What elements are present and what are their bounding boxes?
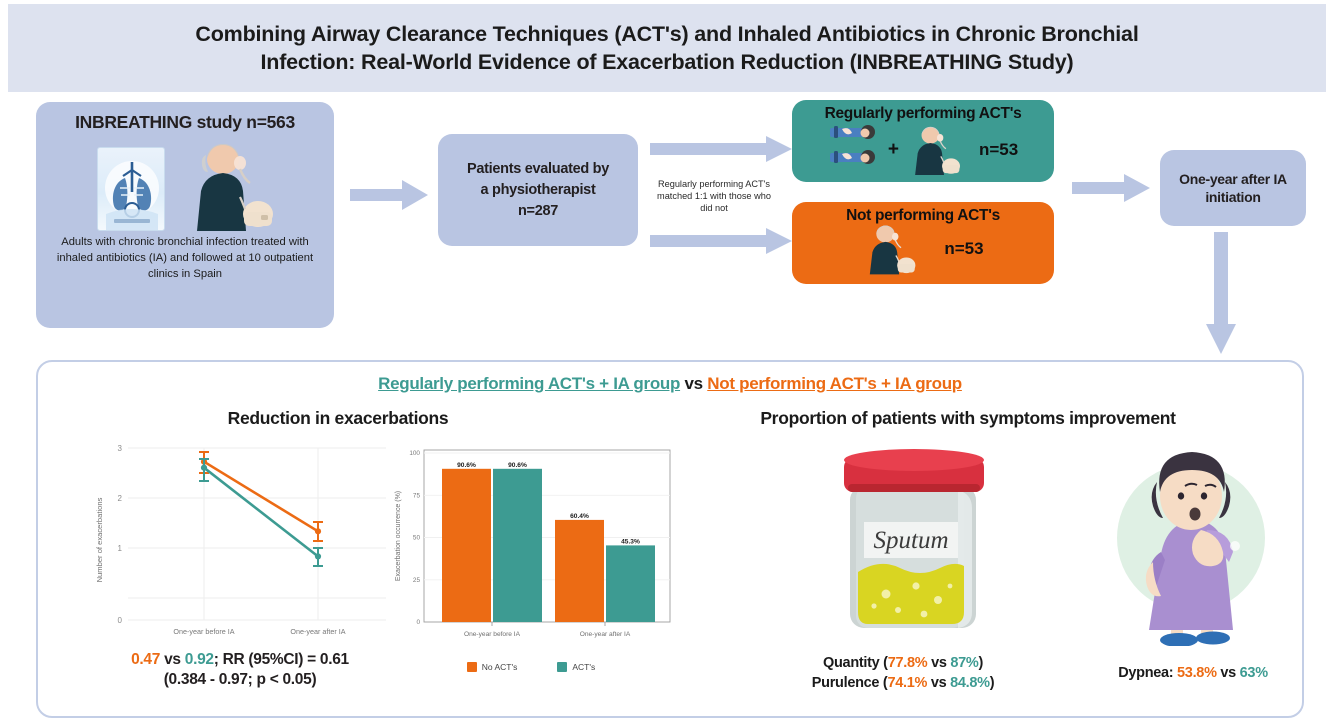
physio-count: n=287	[518, 203, 558, 219]
bar-chart-legend: No ACT's ACT's	[386, 662, 676, 672]
patient-nebulizer-icon	[187, 139, 273, 231]
legend-item-acts: ACT's	[557, 662, 595, 672]
page-title: Combining Airway Clearance Techniques (A…	[147, 20, 1187, 77]
quantity-label: Quantity	[823, 655, 879, 671]
noact-group-artwork: n=53	[804, 223, 1042, 275]
arrow-physio-to-act	[650, 136, 792, 162]
svg-text:50: 50	[413, 535, 421, 542]
followup-line-2: initiation	[1179, 188, 1287, 206]
stat-confidence-interval: (0.384 - 0.97; p < 0.05)	[60, 670, 420, 690]
matching-note: Regularly performing ACT's matched 1:1 w…	[650, 178, 778, 214]
exacerbations-line-chart: 3 2 1 0 Number of exacerbations One-year…	[86, 440, 396, 645]
svg-text:1: 1	[118, 544, 123, 553]
dyspnea-vs: vs	[1220, 665, 1236, 681]
study-population-artwork	[97, 139, 273, 231]
comparison-vs: vs	[685, 374, 703, 393]
exacerbation-occurrence-bar-chart: 100 75 50 25 0 Exacerbation occurrence (…	[386, 444, 676, 659]
stat-value-orange: 0.47	[131, 651, 160, 668]
chest-physiotherapy-icon	[828, 125, 880, 175]
svg-text:Sputum: Sputum	[874, 527, 949, 554]
comparison-header: Regularly performing ACT's + IA group vs…	[38, 374, 1302, 394]
lungs-logo-icon	[97, 147, 165, 231]
exacerbation-statistics: 0.47 vs 0.92; RR (95%CI) = 0.61 (0.384 -…	[60, 650, 420, 689]
comparison-group-orange: Not performing ACT's + IA group	[707, 374, 962, 393]
svg-text:2: 2	[118, 494, 123, 503]
svg-text:3: 3	[118, 444, 123, 453]
quantity-vs: vs	[931, 655, 947, 671]
svg-text:90.6%: 90.6%	[457, 462, 476, 469]
results-panel: Regularly performing ACT's + IA group vs…	[36, 360, 1304, 718]
followup-line-1: One-year after IA	[1179, 170, 1287, 188]
svg-text:0: 0	[416, 619, 420, 626]
svg-text:90.6%: 90.6%	[508, 462, 527, 469]
quantity-teal: 87%	[950, 655, 978, 671]
followup-box: One-year after IA initiation	[1160, 150, 1306, 226]
study-population-description: Adults with chronic bronchial infection …	[48, 235, 322, 283]
purulence-label: Purulence	[812, 675, 879, 691]
legend-label-acts: ACT's	[572, 662, 595, 672]
study-flow-diagram: INBREATHING study n=563	[0, 92, 1333, 352]
svg-text:0: 0	[118, 616, 123, 625]
dyspnea-label: Dypnea:	[1118, 665, 1173, 681]
sputum-jar-icon: Sputum	[798, 444, 1028, 644]
physio-line-2: a physiotherapist	[481, 182, 596, 198]
arrow-to-followup	[1072, 174, 1150, 202]
dyspnea-symptom-results: Dypnea: 53.8% vs 63%	[1078, 664, 1308, 684]
title-band: Combining Airway Clearance Techniques (A…	[8, 4, 1326, 92]
right-section-title: Proportion of patients with symptoms imp…	[638, 408, 1298, 429]
act-group-heading: Regularly performing ACT's	[804, 105, 1042, 123]
arrow-physio-to-noact	[650, 228, 792, 254]
noact-group-count: n=53	[944, 239, 983, 259]
arrow-followup-to-results	[1206, 232, 1236, 354]
patient-nebulizer-icon	[907, 125, 963, 175]
legend-swatch-teal	[557, 662, 567, 672]
left-section-title: Reduction in exacerbations	[48, 408, 628, 429]
act-group-count: n=53	[979, 140, 1018, 160]
svg-text:Exacerbation occurrence (%): Exacerbation occurrence (%)	[395, 491, 402, 581]
arrow-study-to-physio	[350, 180, 428, 210]
svg-text:25: 25	[413, 577, 421, 584]
svg-text:Number of exacerbations: Number of exacerbations	[95, 497, 104, 582]
legend-swatch-orange	[467, 662, 477, 672]
svg-text:One-year before IA: One-year before IA	[464, 631, 521, 638]
dyspnea-orange: 53.8%	[1177, 665, 1217, 681]
physiotherapist-box: Patients evaluated by a physiotherapist …	[438, 134, 638, 246]
dyspnea-patient-icon	[1083, 434, 1298, 646]
plus-symbol: +	[888, 139, 899, 161]
stat-vs: vs	[164, 651, 181, 668]
comparison-group-teal: Regularly performing ACT's + IA group	[378, 374, 680, 393]
legend-label-no-acts: No ACT's	[482, 662, 518, 672]
quantity-orange: 77.8%	[888, 655, 928, 671]
svg-text:One-year after IA: One-year after IA	[290, 627, 345, 636]
study-population-heading: INBREATHING study n=563	[75, 112, 295, 133]
act-group-box: Regularly performing ACT's +	[792, 100, 1054, 182]
svg-text:75: 75	[413, 493, 421, 500]
act-group-artwork: + n=53	[804, 125, 1042, 175]
patient-nebulizer-icon	[862, 223, 918, 275]
purulence-vs: vs	[931, 675, 947, 691]
physio-line-1: Patients evaluated by	[467, 161, 609, 177]
svg-text:45.3%: 45.3%	[621, 539, 640, 546]
noact-group-box: Not performing ACT's n=53	[792, 202, 1054, 284]
sputum-symptom-results: Quantity (77.8% vs 87%) Purulence (74.1%…	[753, 654, 1053, 693]
dyspnea-teal: 63%	[1240, 665, 1268, 681]
stat-value-teal: 0.92	[185, 651, 214, 668]
legend-item-no-acts: No ACT's	[467, 662, 518, 672]
svg-text:100: 100	[409, 450, 420, 457]
study-population-box: INBREATHING study n=563	[36, 102, 334, 328]
svg-text:One-year after IA: One-year after IA	[580, 631, 631, 638]
purulence-teal: 84.8%	[950, 675, 990, 691]
svg-text:One-year before IA: One-year before IA	[173, 627, 234, 636]
purulence-orange: 74.1%	[887, 675, 927, 691]
stat-rr: ; RR (95%CI) = 0.61	[214, 651, 349, 668]
svg-text:60.4%: 60.4%	[570, 513, 589, 520]
